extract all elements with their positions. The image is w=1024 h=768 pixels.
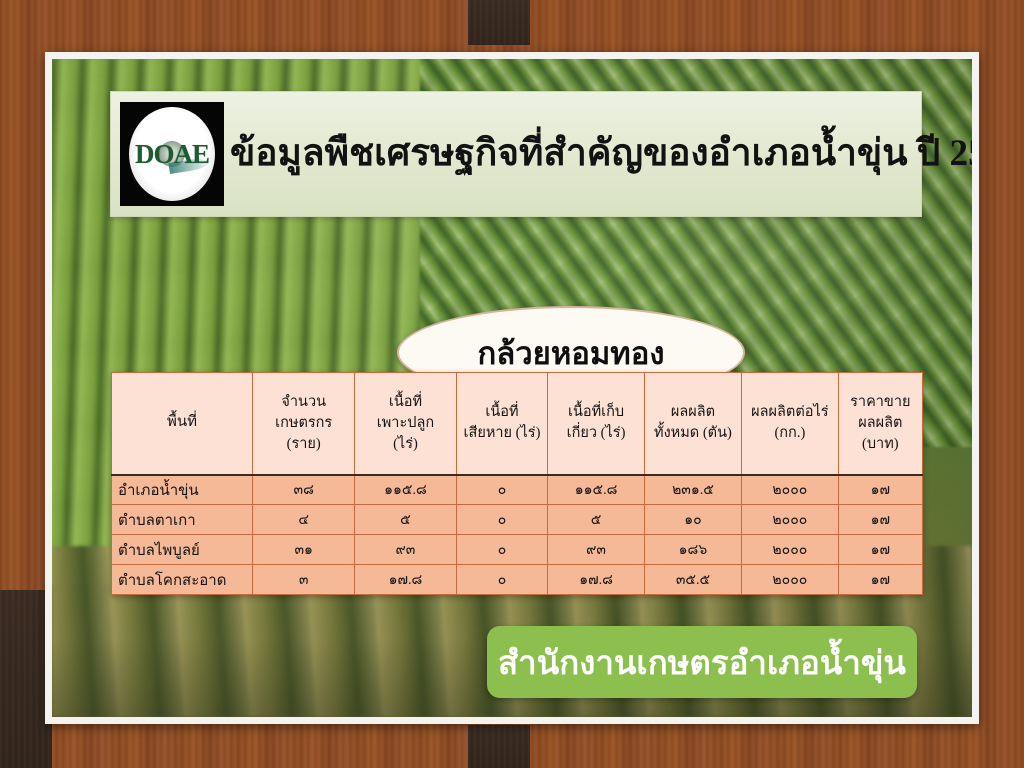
cell-harvested-area: ๑๑๕.๘ xyxy=(548,475,645,505)
cell-harvested-area: ๑๗.๘ xyxy=(548,565,645,595)
col-header-line: ผลผลิตต่อไร่ xyxy=(744,402,836,423)
col-header-total-yield: ผลผลิตทั้งหมด (ตัน) xyxy=(644,373,741,475)
col-header-line: (ราย) xyxy=(255,434,352,455)
office-name-pill: สำนักงานเกษตรอำเภอน้ำขุ่น xyxy=(487,626,917,698)
cell-damaged-area: ๐ xyxy=(456,535,548,565)
office-name-label: สำนักงานเกษตรอำเภอน้ำขุ่น xyxy=(498,636,906,689)
table-row: อำเภอน้ำขุ่น๓๘๑๑๕.๘๐๑๑๕.๘๒๓๑.๕๒๐๐๐๑๗ xyxy=(112,475,923,505)
cell-planted-area: ๕ xyxy=(355,505,456,535)
cell-planted-area: ๑๑๕.๘ xyxy=(355,475,456,505)
cell-price: ๑๗ xyxy=(838,535,922,565)
cell-total-yield: ๒๓๑.๕ xyxy=(644,475,741,505)
col-header-line: เนื้อที่ xyxy=(459,402,546,423)
table-header: พื้นที่ จำนวนเกษตรกร(ราย) เนื้อที่เพาะปล… xyxy=(112,373,923,475)
cell-damaged-area: ๐ xyxy=(456,475,548,505)
cell-price: ๑๗ xyxy=(838,475,922,505)
col-header-line: เสียหาย (ไร่) xyxy=(459,423,546,444)
banana-background-photo: DOAE ข้อมูลพืชเศรษฐกิจที่สำคัญของอำเภอน้… xyxy=(52,59,972,717)
cell-harvested-area: ๕ xyxy=(548,505,645,535)
col-header-line: เกี่ยว (ไร่) xyxy=(550,423,642,444)
col-header-line: (กก.) xyxy=(744,423,836,444)
wood-plank-top xyxy=(468,0,530,45)
cell-price: ๑๗ xyxy=(838,565,922,595)
col-header-farmers: จำนวนเกษตรกร(ราย) xyxy=(253,373,355,475)
table-row: ตำบลตาเกา๔๕๐๕๑๐๒๐๐๐๑๗ xyxy=(112,505,923,535)
cell-total-yield: ๑๘๖ xyxy=(644,535,741,565)
cell-harvested-area: ๙๓ xyxy=(548,535,645,565)
col-header-line: ทั้งหมด (ตัน) xyxy=(647,423,739,444)
col-header-line: เนื้อที่ xyxy=(357,392,453,413)
cell-yield-per-rai: ๒๐๐๐ xyxy=(742,535,839,565)
col-header-harvested-area: เนื้อที่เก็บเกี่ยว (ไร่) xyxy=(548,373,645,475)
cell-area: ตำบลไพบูลย์ xyxy=(112,535,253,565)
col-header-line: ผลผลิต xyxy=(647,402,739,423)
cell-farmers: ๓๘ xyxy=(253,475,355,505)
cell-farmers: ๔ xyxy=(253,505,355,535)
table-header-row: พื้นที่ จำนวนเกษตรกร(ราย) เนื้อที่เพาะปล… xyxy=(112,373,923,475)
col-header-line: ผลผลิต xyxy=(841,413,920,434)
title-banner: DOAE ข้อมูลพืชเศรษฐกิจที่สำคัญของอำเภอน้… xyxy=(110,91,922,217)
crop-statistics-table: พื้นที่ จำนวนเกษตรกร(ราย) เนื้อที่เพาะปล… xyxy=(111,372,923,595)
photo-frame: DOAE ข้อมูลพืชเศรษฐกิจที่สำคัญของอำเภอน้… xyxy=(45,52,979,724)
col-header-planted-area: เนื้อที่เพาะปลูก(ไร่) xyxy=(355,373,456,475)
table-row: ตำบลไพบูลย์๓๑๙๓๐๙๓๑๘๖๒๐๐๐๑๗ xyxy=(112,535,923,565)
col-header-line: (บาท) xyxy=(841,434,920,455)
cell-total-yield: ๓๕.๕ xyxy=(644,565,741,595)
col-header-damaged-area: เนื้อที่เสียหาย (ไร่) xyxy=(456,373,548,475)
cell-planted-area: ๙๓ xyxy=(355,535,456,565)
cell-area: อำเภอน้ำขุ่น xyxy=(112,475,253,505)
logo-circle: DOAE xyxy=(129,107,215,201)
page-title: ข้อมูลพืชเศรษฐกิจที่สำคัญของอำเภอน้ำขุ่น… xyxy=(230,135,972,174)
col-header-line: เพาะปลูก xyxy=(357,413,453,434)
col-header-line: เกษตรกร xyxy=(255,413,352,434)
cell-area: ตำบลตาเกา xyxy=(112,505,253,535)
col-header-yield-per-rai: ผลผลิตต่อไร่(กก.) xyxy=(742,373,839,475)
cell-area: ตำบลโคกสะอาด xyxy=(112,565,253,595)
wood-plank-bottom xyxy=(468,725,530,768)
col-header-line: (ไร่) xyxy=(357,434,453,455)
crop-name-label: กล้วยหอมทอง xyxy=(477,328,664,378)
cell-price: ๑๗ xyxy=(838,505,922,535)
data-table-container: พื้นที่ จำนวนเกษตรกร(ราย) เนื้อที่เพาะปล… xyxy=(111,372,923,595)
doae-logo: DOAE xyxy=(120,102,224,206)
cell-farmers: ๓๑ xyxy=(253,535,355,565)
col-header-line: เนื้อที่เก็บ xyxy=(550,402,642,423)
logo-text: DOAE xyxy=(135,139,209,170)
col-header-line: ราคาขาย xyxy=(841,392,920,413)
cell-damaged-area: ๐ xyxy=(456,505,548,535)
cell-yield-per-rai: ๒๐๐๐ xyxy=(742,565,839,595)
cell-yield-per-rai: ๒๐๐๐ xyxy=(742,475,839,505)
cell-yield-per-rai: ๒๐๐๐ xyxy=(742,505,839,535)
cell-total-yield: ๑๐ xyxy=(644,505,741,535)
table-row: ตำบลโคกสะอาด๓๑๗.๘๐๑๗.๘๓๕.๕๒๐๐๐๑๗ xyxy=(112,565,923,595)
table-body: อำเภอน้ำขุ่น๓๘๑๑๕.๘๐๑๑๕.๘๒๓๑.๕๒๐๐๐๑๗ตำบล… xyxy=(112,475,923,595)
col-header-line: พื้นที่ xyxy=(114,412,250,434)
cell-damaged-area: ๐ xyxy=(456,565,548,595)
cell-planted-area: ๑๗.๘ xyxy=(355,565,456,595)
col-header-price: ราคาขายผลผลิต(บาท) xyxy=(838,373,922,475)
cell-farmers: ๓ xyxy=(253,565,355,595)
col-header-line: จำนวน xyxy=(255,392,352,413)
slide-canvas: DOAE ข้อมูลพืชเศรษฐกิจที่สำคัญของอำเภอน้… xyxy=(0,0,1024,768)
col-header-area: พื้นที่ xyxy=(112,373,253,475)
